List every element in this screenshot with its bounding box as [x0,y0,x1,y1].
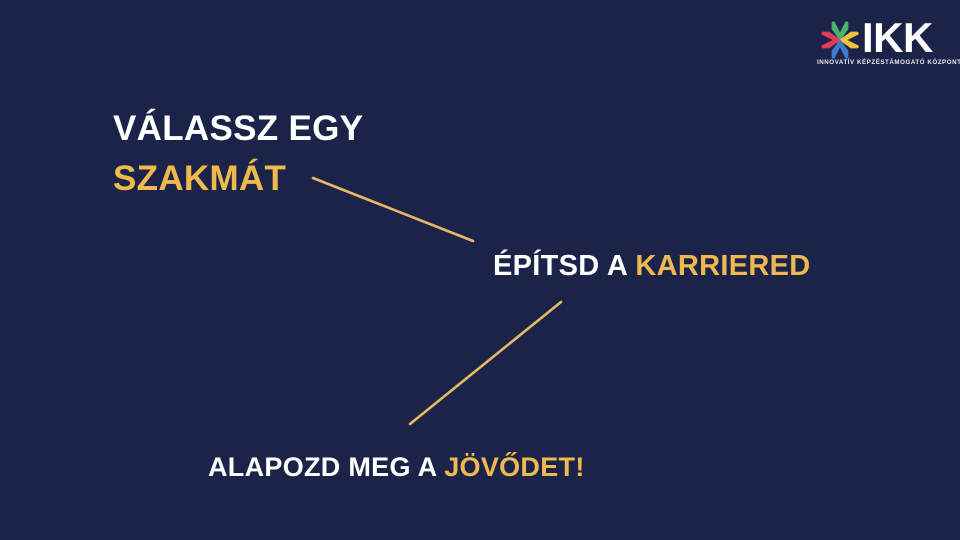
ikk-logo-mark-icon [819,19,861,61]
headline-found-future: ALAPOZD MEG A JÖVŐDET! [208,450,585,484]
slide-canvas: IKK INNOVATÍV KÉPZÉSTÁMOGATÓ KÖZPONT VÁL… [0,0,960,540]
headline-1-line-b-accent: SZAKMÁT [113,154,363,204]
headline-choose-profession: VÁLASSZ EGY SZAKMÁT [113,104,363,204]
headline-3-plain: ALAPOZD MEG A [208,452,444,482]
headline-build-career: ÉPÍTSD A KARRIERED [493,248,810,284]
headline-2-accent: KARRIERED [635,250,810,282]
headline-1-line-a: VÁLASSZ EGY [113,104,363,154]
headline-2-plain: ÉPÍTSD A [493,250,635,282]
connector-line-2 [410,302,561,424]
ikk-logo: IKK INNOVATÍV KÉPZÉSTÁMOGATÓ KÖZPONT [815,15,955,75]
ikk-wordmark: IKK [862,15,933,61]
ikk-tagline: INNOVATÍV KÉPZÉSTÁMOGATÓ KÖZPONT [817,59,957,66]
headline-3-accent: JÖVŐDET! [444,452,584,482]
